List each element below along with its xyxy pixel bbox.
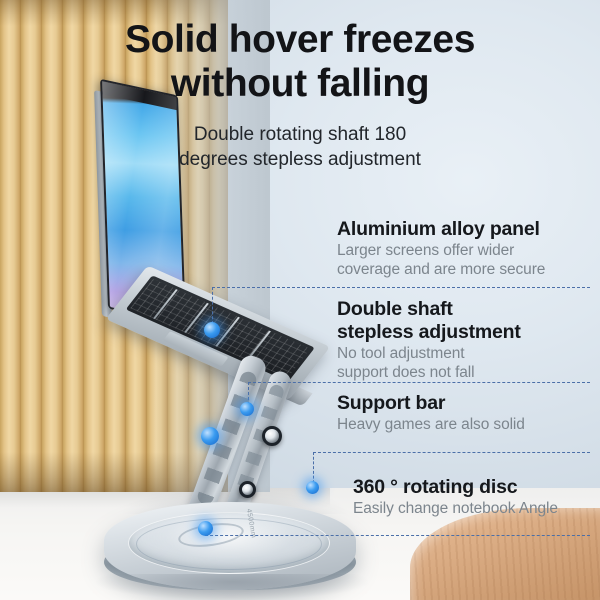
leader-line-supportbar-horizontal — [313, 452, 590, 453]
callout-aluminium-alloy-panel: Aluminium alloy panel Larger screens off… — [337, 218, 595, 280]
headline-line-2: without falling — [0, 62, 600, 106]
shaft-joint-upper — [262, 426, 282, 446]
callout-4-sub: Easily change notebook Angle — [353, 500, 598, 519]
subheadline: Double rotating shaft 180 degrees steple… — [130, 122, 470, 172]
callout-3-title: Support bar — [337, 392, 595, 415]
accent-dot-hinge — [204, 322, 220, 338]
accent-dot-keyboard — [201, 427, 219, 445]
callout-1-title: Aluminium alloy panel — [337, 218, 595, 241]
callout-1-sub-line-1: Larger screens offer wider — [337, 242, 595, 261]
callout-1-sub: Larger screens offer wider coverage and … — [337, 242, 595, 280]
leader-line-disc-horizontal — [205, 535, 590, 536]
callout-double-shaft: Double shaft stepless adjustment No tool… — [337, 298, 595, 383]
callout-2-sub: No tool adjustment support does not fall — [337, 345, 595, 383]
callout-2-title-line-1: Double shaft — [337, 298, 595, 321]
shaft-joint-middle — [239, 481, 256, 498]
callout-1-sub-line-2: coverage and are more secure — [337, 261, 595, 280]
product-marketing-image: 4500mm Solid hover freezes without falli… — [0, 0, 600, 600]
accent-dot-shaft — [240, 402, 254, 416]
callout-support-bar: Support bar Heavy games are also solid — [337, 392, 595, 435]
subheadline-line-2: degrees stepless adjustment — [130, 147, 470, 172]
callout-2-title: Double shaft stepless adjustment — [337, 298, 595, 344]
callout-rotating-disc: 360 ° rotating disc Easily change notebo… — [353, 476, 598, 519]
subheadline-line-1: Double rotating shaft 180 — [130, 122, 470, 147]
callout-2-title-line-2: stepless adjustment — [337, 321, 595, 344]
headline-line-1: Solid hover freezes — [125, 18, 475, 61]
callout-4-title: 360 ° rotating disc — [353, 476, 598, 499]
accent-dot-support-bar — [306, 481, 319, 494]
headline: Solid hover freezes without falling — [0, 18, 600, 105]
accent-dot-disc — [198, 521, 213, 536]
callout-2-sub-line-1: No tool adjustment — [337, 345, 595, 364]
leader-line-panel-horizontal — [212, 287, 590, 288]
callout-3-sub: Heavy games are also solid — [337, 416, 595, 435]
callout-2-sub-line-2: support does not fall — [337, 364, 595, 383]
base-drop-shadow — [96, 574, 368, 600]
